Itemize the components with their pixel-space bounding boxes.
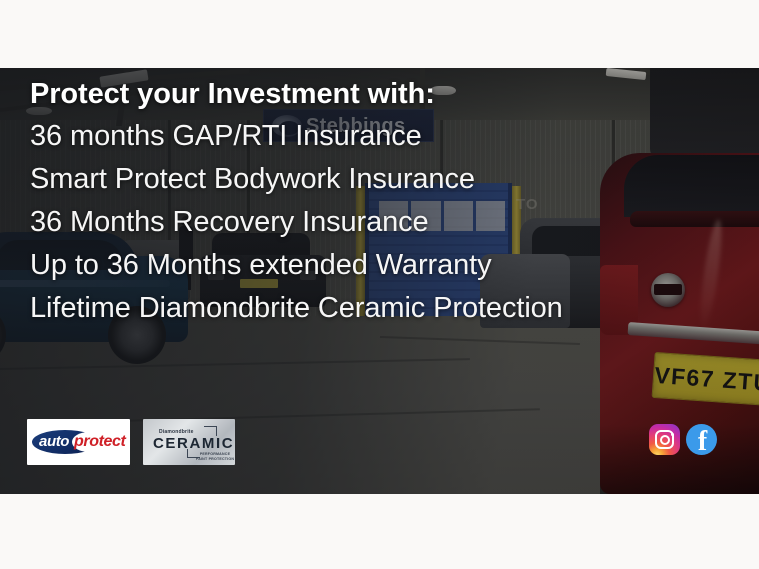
instagram-dot-shape [671,433,674,436]
instagram-lens-shape [660,435,670,445]
benefit-item-1: 36 months GAP/RTI Insurance [30,115,710,158]
ceramic-logo-main-text: CERAMIC [153,435,234,452]
car-number-plate: VF67 ZTU [652,352,759,406]
autoprotect-logo: auto protect [27,419,130,465]
partner-logos: auto protect Diamondbrite CERAMIC PERFOR… [27,419,235,465]
instagram-icon[interactable] [649,424,680,455]
diamondbrite-ceramic-logo: Diamondbrite CERAMIC PERFORMANCE PAINT P… [143,419,235,465]
number-plate-text: VF67 ZTU [654,361,759,396]
social-icons: f [649,424,717,455]
slide-container: Stebbings TO [0,0,759,569]
benefit-item-5: Lifetime Diamondbrite Ceramic Protection [30,287,710,330]
facebook-f-glyph: f [686,424,717,455]
benefit-item-2: Smart Protect Bodywork Insurance [30,158,710,201]
ceramic-logo-tagline: PERFORMANCE PAINT PROTECTION [195,452,235,462]
promo-copy-block: Protect your Investment with: 36 months … [30,73,710,330]
autoprotect-logo-auto-text: auto [39,434,69,450]
facebook-icon[interactable]: f [686,424,717,455]
autoprotect-logo-protect-text: protect [74,434,125,450]
benefit-item-4: Up to 36 Months extended Warranty [30,244,710,287]
page-title: Protect your Investment with: [30,73,710,115]
benefit-item-3: 36 Months Recovery Insurance [30,201,710,244]
